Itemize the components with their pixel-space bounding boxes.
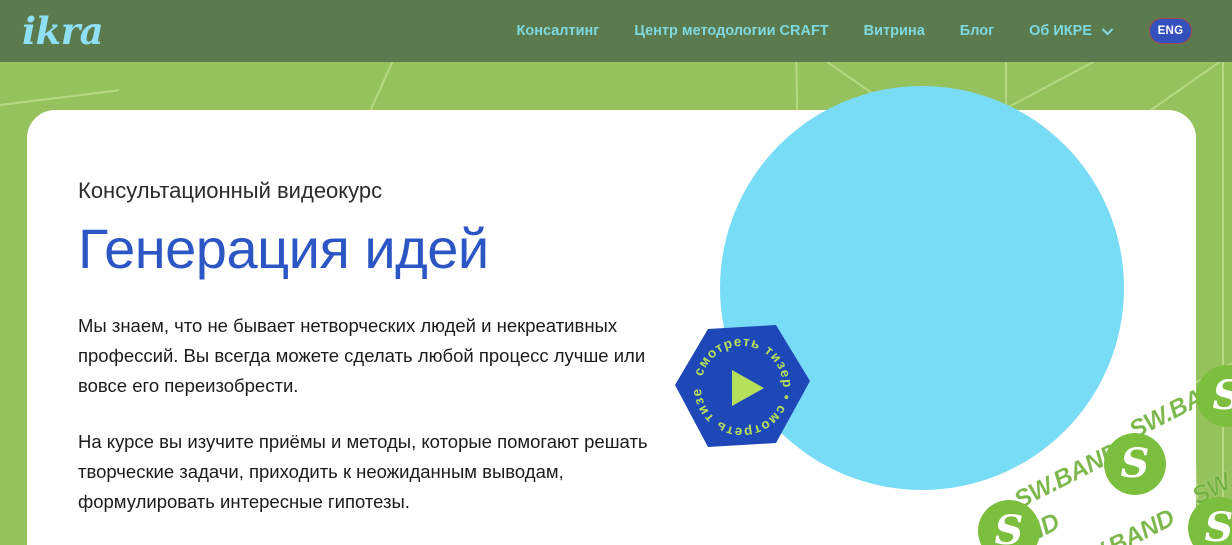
background-line: [0, 89, 119, 106]
nav-item-about-ikra-label: Об ИКРЕ: [1029, 23, 1092, 39]
site-logo[interactable]: ikra: [22, 13, 103, 50]
main-nav: Консалтинг Центр методологии CRAFT Витри…: [517, 18, 1232, 44]
top-navigation-bar: ikra Консалтинг Центр методологии CRAFT …: [0, 0, 1232, 62]
nav-item-blog[interactable]: Блог: [960, 23, 994, 39]
nav-item-craft-methodology-center[interactable]: Центр методологии CRAFT: [634, 23, 828, 39]
hero-paragraph-2: На курсе вы изучите приёмы и методы, кот…: [78, 427, 653, 517]
chevron-down-icon: [1101, 25, 1114, 38]
page-root: ikra Консалтинг Центр методологии CRAFT …: [0, 0, 1232, 545]
background-line: [1222, 62, 1224, 545]
nav-item-showcase[interactable]: Витрина: [864, 23, 925, 39]
hero-text-block: Консультационный видеокурс Генерация иде…: [78, 178, 678, 543]
background-line: [1004, 62, 1199, 110]
page-title: Генерация идей: [78, 218, 678, 281]
nav-item-consulting[interactable]: Консалтинг: [517, 23, 600, 39]
hero-paragraph-1: Мы знаем, что не бывает нетворческих люд…: [78, 311, 653, 401]
hero-kicker: Консультационный видеокурс: [78, 178, 678, 204]
language-switch-button[interactable]: ENG: [1149, 18, 1192, 44]
nav-item-about-ikra[interactable]: Об ИКРЕ: [1029, 23, 1114, 39]
watch-teaser-button[interactable]: смотреть тизер • смотреть тизер •: [672, 323, 812, 451]
